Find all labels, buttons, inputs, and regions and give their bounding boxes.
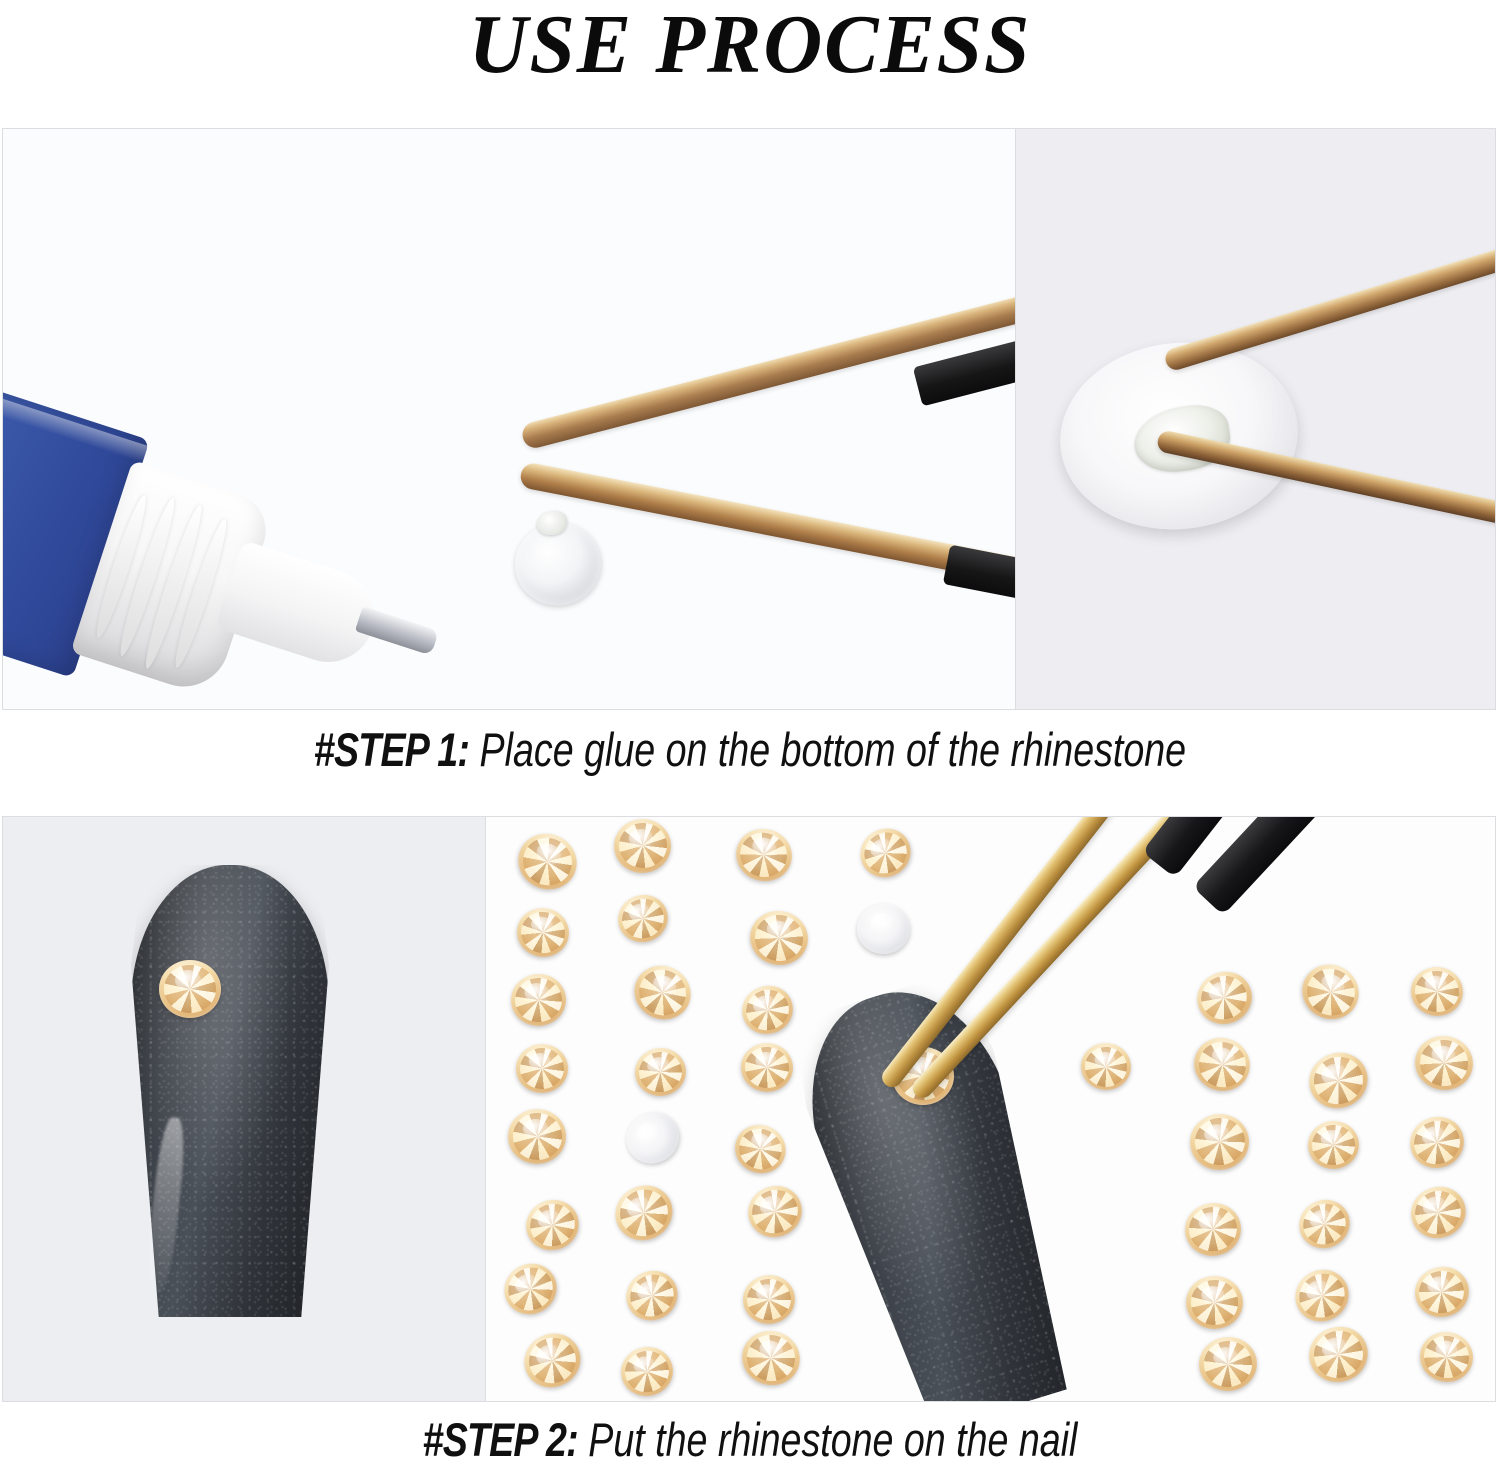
rhinestone xyxy=(514,904,572,959)
rhinestone xyxy=(1079,1041,1133,1093)
rhinestone xyxy=(633,1045,689,1099)
rhinestone xyxy=(614,818,673,873)
rhinestone xyxy=(1187,1111,1252,1173)
glue-bottle-and-tweezers-photo: B xyxy=(2,128,1015,710)
rhinestone xyxy=(1190,963,1260,1031)
rhinestone xyxy=(730,822,798,887)
step-1-text: Place glue on the bottom of the rhinesto… xyxy=(469,723,1186,776)
rhinestone xyxy=(625,956,700,1029)
rhinestone-flatback-closeup-photo xyxy=(1015,128,1496,710)
tweezers-upper-arm xyxy=(1163,217,1496,373)
rhinestone xyxy=(740,1042,795,1094)
rhinestone-flatback-silver xyxy=(856,903,911,955)
glue-bottle-tip xyxy=(215,540,386,674)
rhinestone xyxy=(495,1254,566,1324)
rhinestone xyxy=(1181,1199,1245,1260)
rhinestone xyxy=(735,979,799,1041)
rhinestone xyxy=(617,1261,687,1329)
step-1-label: #STEP 1: xyxy=(314,723,469,776)
rhinestone xyxy=(1300,1044,1375,1117)
rhinestone xyxy=(745,906,813,971)
rhinestone-on-nail xyxy=(159,960,221,1018)
step-2-caption: #STEP 2: Put the rhinestone on the nail xyxy=(150,1412,1350,1467)
rhinestone xyxy=(1291,1191,1358,1257)
rhinestone xyxy=(519,1192,587,1258)
rhinestone xyxy=(507,1108,566,1164)
rhinestone xyxy=(1404,1180,1472,1246)
glue-bottle-metal-needle xyxy=(355,606,439,655)
step-2-text: Put the rhinestone on the nail xyxy=(578,1413,1078,1466)
step-2-photo-row xyxy=(2,816,1496,1402)
rhinestone xyxy=(741,1178,810,1245)
rhinestone xyxy=(516,1044,569,1094)
rhinestone xyxy=(741,1272,798,1326)
rhinestone xyxy=(736,1324,806,1392)
glue-bottle: B xyxy=(2,369,462,710)
rhinestone xyxy=(616,1342,677,1401)
rhinestone xyxy=(1302,1320,1374,1390)
rhinestone-flatback-silver xyxy=(617,1103,687,1172)
finished-nail-photo xyxy=(2,816,485,1402)
page-title: USE PROCESS xyxy=(469,2,1032,88)
rhinestone xyxy=(1292,955,1368,1030)
rhinestone xyxy=(1286,1259,1359,1331)
rhinestone xyxy=(509,824,585,898)
rhinestone xyxy=(727,1116,793,1180)
rhinestone xyxy=(1416,1327,1479,1387)
rhinestone xyxy=(1197,1335,1259,1394)
placing-rhinestone-photo xyxy=(485,816,1496,1402)
rhinestone xyxy=(605,1176,681,1251)
rhinestone xyxy=(1411,1262,1474,1322)
page-header: USE PROCESS xyxy=(0,0,1500,120)
rhinestone xyxy=(852,819,920,886)
rhinestone xyxy=(1187,1030,1258,1099)
step-1-photo-row: B xyxy=(2,128,1496,710)
step-2-label: #STEP 2: xyxy=(423,1413,578,1466)
rhinestone xyxy=(1307,1120,1361,1171)
rhinestone xyxy=(1185,1275,1243,1330)
step-1-caption: #STEP 1: Place glue on the bottom of the… xyxy=(150,722,1350,777)
rhinestone xyxy=(509,972,567,1027)
tweezers-lower-grip xyxy=(1192,816,1359,915)
rhinestone xyxy=(515,1324,590,1397)
rhinestone xyxy=(611,888,674,949)
rhinestone xyxy=(1403,1110,1470,1175)
rhinestone xyxy=(1409,964,1466,1018)
rhinestone xyxy=(1410,1031,1477,1095)
tweezers-lower-grip xyxy=(943,545,1015,618)
